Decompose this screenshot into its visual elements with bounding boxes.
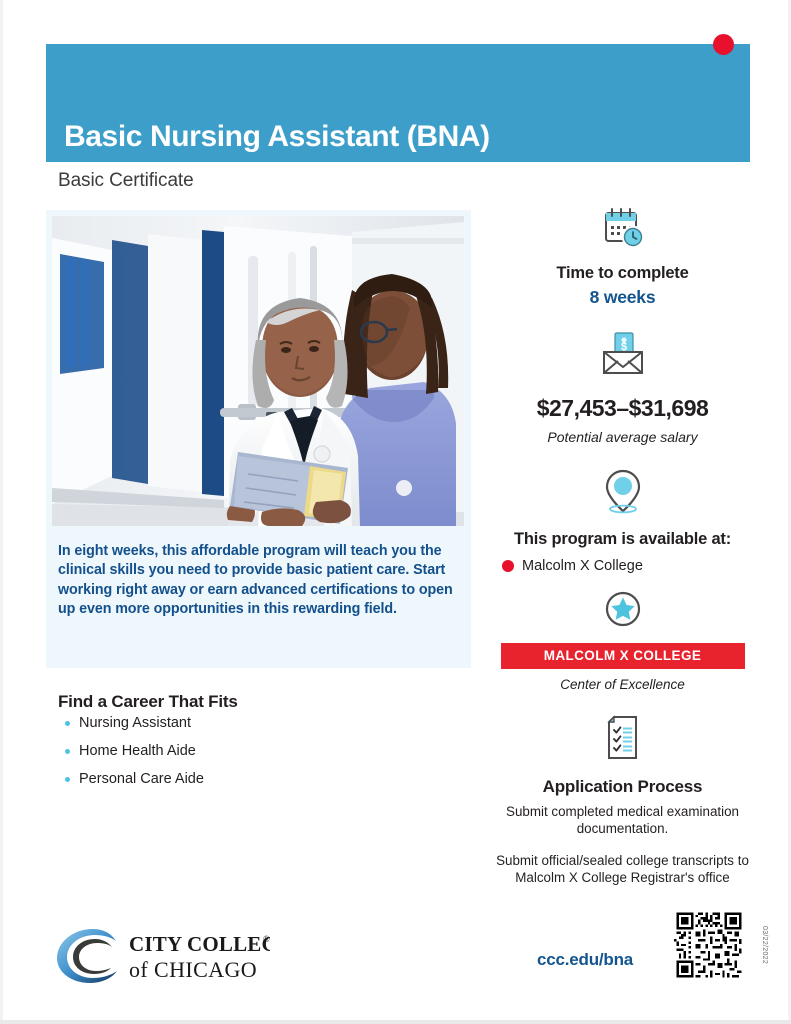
- list-item: Nursing Assistant: [62, 713, 392, 741]
- star-badge-icon: [480, 590, 765, 633]
- center-of-excellence-caption: Center of Excellence: [480, 677, 765, 692]
- website-url[interactable]: ccc.edu/bna: [537, 950, 633, 970]
- page-edge-left: [0, 0, 3, 1024]
- availability-heading: This program is available at:: [480, 530, 765, 549]
- campus-list-item: Malcolm X College: [480, 558, 765, 574]
- center-of-excellence-banner: MALCOLM X COLLEGE: [501, 643, 745, 669]
- list-item: Home Health Aide: [62, 741, 392, 769]
- revision-date: 03/22/2022: [761, 926, 768, 986]
- map-pin-icon: [480, 467, 765, 520]
- campus-name: Malcolm X College: [522, 558, 643, 574]
- qr-code[interactable]: [674, 910, 744, 985]
- page-subtitle: Basic Certificate: [58, 170, 194, 192]
- page-title: Basic Nursing Assistant (BNA): [64, 120, 490, 154]
- header-banner: Basic Nursing Assistant (BNA): [46, 44, 750, 162]
- application-step: Submit official/sealed college transcrip…: [480, 853, 765, 886]
- application-step: Submit completed medical examination doc…: [480, 804, 765, 837]
- program-photo: [52, 216, 464, 526]
- right-info-column: Time to complete 8 weeks $ $27,453–$31,6…: [480, 205, 765, 886]
- careers-list: Nursing Assistant Home Health Aide Perso…: [62, 713, 392, 797]
- envelope-money-icon: $: [480, 330, 765, 383]
- svg-text:of CHICAGO: of CHICAGO: [129, 957, 257, 982]
- time-to-complete-label: Time to complete: [480, 264, 765, 283]
- svg-text:®: ®: [263, 934, 270, 944]
- salary-caption: Potential average salary: [480, 429, 765, 445]
- campus-dot-icon: [502, 560, 514, 572]
- careers-heading: Find a Career That Fits: [58, 692, 238, 712]
- calendar-clock-icon: [480, 205, 765, 256]
- salary-range: $27,453–$31,698: [480, 395, 765, 422]
- application-process-heading: Application Process: [480, 777, 765, 797]
- page-edge-bottom: [0, 1020, 791, 1024]
- accent-dot-icon: [713, 34, 734, 55]
- time-to-complete-value: 8 weeks: [480, 287, 765, 308]
- svg-text:CITY COLLEGES: CITY COLLEGES: [129, 932, 270, 956]
- program-description: In eight weeks, this affordable program …: [58, 542, 470, 619]
- ccc-logo: CITY COLLEGES ® of CHICAGO: [55, 925, 270, 992]
- flyer-page: Basic Nursing Assistant (BNA) Basic Cert…: [0, 0, 791, 1024]
- checklist-icon: [480, 714, 765, 767]
- list-item: Personal Care Aide: [62, 769, 392, 797]
